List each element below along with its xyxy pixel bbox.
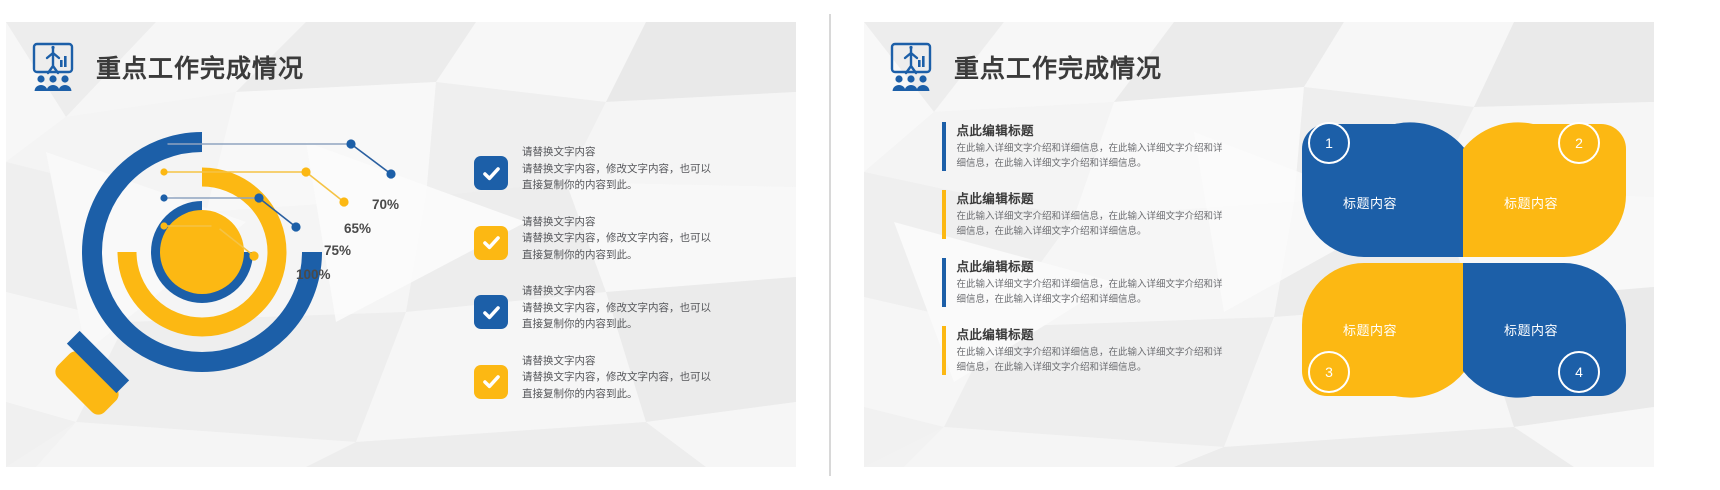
list-item-title: 请替换文字内容 <box>522 353 774 370</box>
slide-header-left: 重点工作完成情况 <box>26 40 304 94</box>
vertical-divider <box>829 14 831 476</box>
info-block[interactable]: 点此编辑标题 在此输入详细文字介绍和详细信息，在此输入详细文字介绍和详 细信息，… <box>942 258 1282 307</box>
list-item-title: 请替换文字内容 <box>522 144 774 161</box>
accent-bar <box>942 258 946 307</box>
slide-deck: 重点工作完成情况 <box>0 0 1720 490</box>
page-title: 重点工作完成情况 <box>96 49 304 85</box>
list-item[interactable]: 请替换文字内容 请替换文字内容，修改文字内容，也可以 直接复制你的内容到此。 <box>474 353 774 403</box>
info-block-line1: 在此输入详细文字介绍和详细信息，在此输入详细文字介绍和详 <box>957 277 1283 292</box>
list-item-line1: 请替换文字内容，修改文字内容，也可以 <box>522 161 774 178</box>
info-block-line1: 在此输入详细文字介绍和详细信息，在此输入详细文字介绍和详 <box>957 141 1283 156</box>
info-block[interactable]: 点此编辑标题 在此输入详细文字介绍和详细信息，在此输入详细文字介绍和详 细信息，… <box>942 190 1282 239</box>
list-item-line1: 请替换文字内容，修改文字内容，也可以 <box>522 300 774 317</box>
info-block-line1: 在此输入详细文字介绍和详细信息，在此输入详细文字介绍和详 <box>957 209 1283 224</box>
petal-label-4: 标题内容 <box>1504 320 1558 339</box>
check-icon <box>474 295 508 329</box>
list-item-line2: 直接复制你的内容到此。 <box>522 386 774 403</box>
info-block[interactable]: 点此编辑标题 在此输入详细文字介绍和详细信息，在此输入详细文字介绍和详 细信息，… <box>942 122 1282 171</box>
info-block-title: 点此编辑标题 <box>957 326 1283 345</box>
badge-4[interactable]: 4 <box>1558 351 1600 393</box>
info-block[interactable]: 点此编辑标题 在此输入详细文字介绍和详细信息，在此输入详细文字介绍和详 细信息，… <box>942 326 1282 375</box>
presentation-audience-icon <box>884 40 938 94</box>
checklist: 请替换文字内容 请替换文字内容，修改文字内容，也可以 直接复制你的内容到此。 请… <box>474 144 774 422</box>
list-item[interactable]: 请替换文字内容 请替换文字内容，修改文字内容，也可以 直接复制你的内容到此。 <box>474 144 774 194</box>
accent-bar <box>942 122 946 171</box>
ring-value-4: 100% <box>296 267 331 282</box>
info-block-line2: 细信息，在此输入详细文字介绍和详细信息。 <box>957 224 1283 239</box>
ring-value-3: 75% <box>324 243 351 258</box>
badge-2[interactable]: 2 <box>1558 122 1600 164</box>
slide-left: 重点工作完成情况 <box>6 22 796 467</box>
info-block-list: 点此编辑标题 在此输入详细文字介绍和详细信息，在此输入详细文字介绍和详 细信息，… <box>942 122 1282 394</box>
petal-2 <box>1463 122 1626 257</box>
ring-value-2: 65% <box>344 221 371 236</box>
info-block-line2: 细信息，在此输入详细文字介绍和详细信息。 <box>957 156 1283 171</box>
list-item-line2: 直接复制你的内容到此。 <box>522 177 774 194</box>
page-title: 重点工作完成情况 <box>954 49 1162 85</box>
four-petal-diagram: 标题内容 标题内容 标题内容 标题内容 1 2 3 4 <box>1296 108 1626 408</box>
badge-3[interactable]: 3 <box>1308 351 1350 393</box>
info-block-line2: 细信息，在此输入详细文字介绍和详细信息。 <box>957 292 1283 307</box>
info-block-title: 点此编辑标题 <box>957 122 1283 141</box>
list-item-title: 请替换文字内容 <box>522 214 774 231</box>
list-item-title: 请替换文字内容 <box>522 283 774 300</box>
list-item-line1: 请替换文字内容，修改文字内容，也可以 <box>522 230 774 247</box>
ring-value-1: 70% <box>372 197 399 212</box>
info-block-title: 点此编辑标题 <box>957 258 1283 277</box>
presentation-audience-icon <box>26 40 80 94</box>
petal-label-1: 标题内容 <box>1343 193 1397 212</box>
accent-bar <box>942 326 946 375</box>
list-item[interactable]: 请替换文字内容 请替换文字内容，修改文字内容，也可以 直接复制你的内容到此。 <box>474 283 774 333</box>
petal-label-2: 标题内容 <box>1504 193 1558 212</box>
slide-gutter <box>796 0 864 490</box>
accent-bar <box>942 190 946 239</box>
slide-header-right: 重点工作完成情况 <box>884 40 1162 94</box>
list-item-line2: 直接复制你的内容到此。 <box>522 316 774 333</box>
list-item-line1: 请替换文字内容，修改文字内容，也可以 <box>522 369 774 386</box>
info-block-title: 点此编辑标题 <box>957 190 1283 209</box>
info-block-line1: 在此输入详细文字介绍和详细信息，在此输入详细文字介绍和详 <box>957 345 1283 360</box>
list-item[interactable]: 请替换文字内容 请替换文字内容，修改文字内容，也可以 直接复制你的内容到此。 <box>474 214 774 264</box>
check-icon <box>474 156 508 190</box>
leader-lines <box>156 132 476 332</box>
petal-label-3: 标题内容 <box>1343 320 1397 339</box>
badge-1[interactable]: 1 <box>1308 122 1350 164</box>
list-item-line2: 直接复制你的内容到此。 <box>522 247 774 264</box>
slide-right: 重点工作完成情况 点此编辑标题 在此输入详细文字介绍和详细信息，在此输入详细文字… <box>864 22 1654 467</box>
info-block-line2: 细信息，在此输入详细文字介绍和详细信息。 <box>957 360 1283 375</box>
check-icon <box>474 226 508 260</box>
check-icon <box>474 365 508 399</box>
